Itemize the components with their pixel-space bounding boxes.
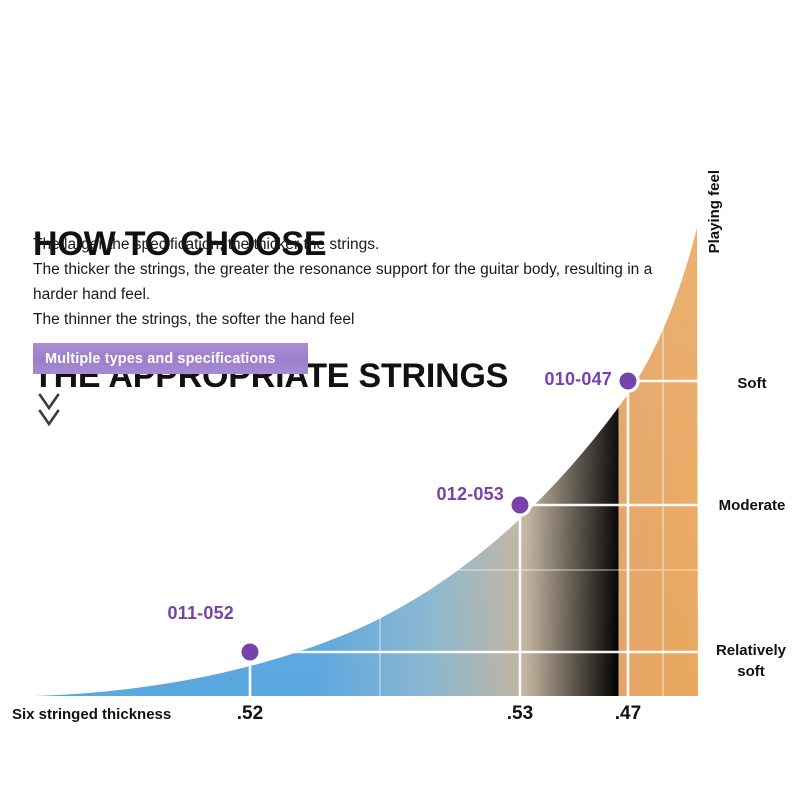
specifications-badge[interactable]: Multiple types and specifications — [33, 343, 308, 374]
data-point-label-2: 012-053 — [394, 484, 504, 505]
y-axis-title: Playing feel — [706, 170, 723, 253]
x-axis-tick-3: .47 — [598, 703, 658, 725]
data-point-label-1: 011-052 — [124, 603, 234, 624]
y-axis-tick-moderate: Moderate — [706, 495, 798, 516]
description-text: The larger the specification, the thicke… — [33, 232, 658, 332]
x-axis-tick-2: .53 — [490, 703, 550, 725]
x-axis-title: Six stringed thickness — [12, 706, 171, 723]
x-axis-tick-1: .52 — [220, 703, 280, 725]
y-axis-tick-soft: Soft — [710, 373, 794, 394]
specifications-badge-label: Multiple types and specifications — [45, 351, 276, 367]
description-line-1: The larger the specification, the thicke… — [33, 232, 658, 257]
description-line-3: The thinner the strings, the softer the … — [33, 307, 658, 332]
double-chevron-down-icon — [36, 392, 62, 436]
y-axis-tick-relatively-soft: Relatively soft — [704, 640, 798, 682]
description-line-2: The thicker the strings, the greater the… — [33, 257, 658, 307]
slide-canvas: HOW TO CHOOSE THE APPROPRIATE STRINGS Th… — [0, 0, 800, 800]
data-point-label-3: 010-047 — [502, 369, 612, 390]
